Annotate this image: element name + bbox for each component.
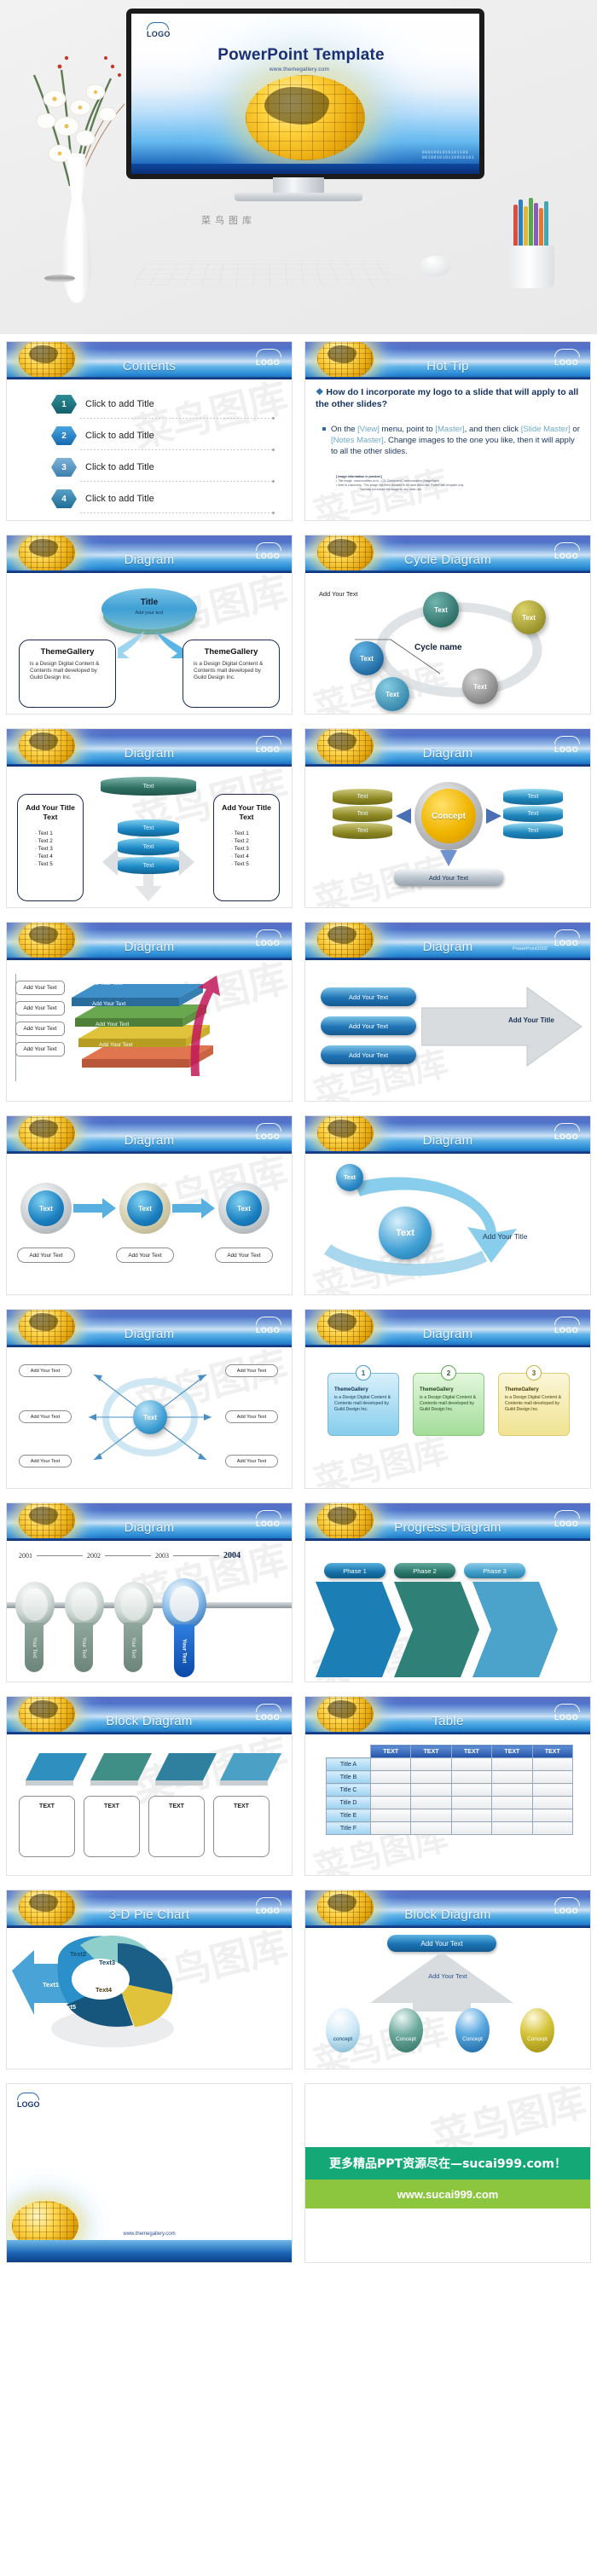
circle-label: Text: [28, 1190, 64, 1226]
caption-field[interactable]: Add Your Text: [215, 1247, 273, 1263]
version-tag: PowerPoint2002: [513, 946, 548, 952]
logo-arc-icon: [17, 2093, 39, 2100]
year-connector: [37, 1555, 83, 1556]
line-dot: [272, 512, 275, 514]
slide-header: Hot Tip LOGO: [305, 342, 590, 379]
left-cylinder: Text: [333, 789, 392, 805]
timeline-tag: Your Text: [124, 1623, 142, 1672]
logo-arc-icon: [256, 929, 281, 938]
arrow-label: Add Your Title: [508, 1016, 554, 1024]
logo-mark: LOGO: [554, 542, 580, 560]
row-header: Title E: [327, 1809, 371, 1822]
image-info-note: [ Image information in product ] • Title…: [336, 475, 580, 492]
slide-cell[interactable]: Table LOGO 菜鸟图库 TEXT TEXT TEXT TEXT TEXT: [298, 1689, 597, 1883]
slide-cell[interactable]: Block Diagram LOGO 菜鸟图库: [0, 1689, 298, 1883]
logo-text: LOGO: [554, 1132, 578, 1141]
left-field[interactable]: Add Your Text: [15, 1042, 65, 1056]
slide-title: Progress Diagram: [305, 1520, 590, 1535]
oval-node[interactable]: Concept: [455, 2008, 490, 2052]
monitor-bezel: LOGO PowerPoint Template www.themegaller…: [126, 9, 484, 179]
slide-diagram-cylinders[interactable]: Diagram LOGO 菜鸟图库 Text Text Text Text: [6, 728, 293, 908]
slide-header: Diagram LOGO: [305, 729, 590, 767]
slide-body: 菜鸟图库 Text Text Text Text Add Your Title …: [7, 767, 292, 908]
line-dot: [272, 480, 275, 483]
contents-row[interactable]: 4 Click to add Title: [51, 489, 154, 508]
arrow-right-icon: [73, 1198, 118, 1219]
square-bullet-icon: [322, 427, 326, 431]
slide-header: Cycle Diagram LOGO: [305, 535, 590, 573]
arrow-left-icon: [394, 806, 414, 826]
card-heading: ThemeGallery: [334, 1387, 392, 1392]
slide-header: Diagram LOGO: [7, 535, 292, 573]
box-body: is a Design Digital Content & Contents m…: [194, 661, 269, 681]
cycle-node[interactable]: Text: [350, 641, 384, 675]
logo-mark: LOGO: [554, 736, 580, 754]
slide-cell[interactable]: Cycle Diagram LOGO 菜鸟图库 Add Your Text Cy…: [298, 528, 597, 721]
small-node[interactable]: Text: [336, 1164, 363, 1191]
top-cylinder: Text: [101, 777, 196, 796]
year-connector: [105, 1555, 151, 1556]
slide-cell[interactable]: Diagram LOGO 菜鸟图库 Text Text Text Text: [0, 721, 298, 915]
logo-mark: LOGO: [256, 542, 281, 560]
cycle-node[interactable]: Text: [462, 669, 498, 704]
slide-cell[interactable]: Block Diagram LOGO 菜鸟图库 Add Your Text Ad…: [298, 1883, 597, 2076]
slide-hot-tip[interactable]: Hot Tip LOGO 菜鸟图库 ❖How do I incorporate …: [304, 341, 591, 521]
left-field[interactable]: Add Your Text: [15, 1022, 65, 1036]
phase-pill[interactable]: Phase 2: [394, 1563, 455, 1578]
globe-graphic: [246, 75, 365, 160]
logo-text: LOGO: [554, 1713, 578, 1722]
slide-diagram-concept[interactable]: Diagram LOGO 菜鸟图库 Text Text Text Text Te…: [304, 728, 591, 908]
slide-body: 菜鸟图库 Phase 1 Phase 2 Phase 3: [305, 1541, 590, 1682]
slide-header: Diagram LOGO: [305, 1116, 590, 1154]
pie-label: Text4: [96, 1986, 112, 1994]
slide-cell[interactable]: LOGO www.themegallery.com: [0, 2076, 298, 2270]
logo-text: LOGO: [554, 552, 578, 560]
top-button[interactable]: Add Your Text: [387, 1935, 496, 1952]
right-cylinder: Text: [503, 789, 563, 805]
line-dot: [272, 449, 275, 451]
step-badge: 4: [51, 489, 77, 508]
card[interactable]: 3 ThemeGallery is a Design Digital Conte…: [498, 1373, 570, 1436]
slide-header: Diagram LOGO: [7, 1503, 292, 1541]
row-header: Title D: [327, 1797, 371, 1809]
slide-diagram-steps[interactable]: Diagram LOGO 菜鸟图库 Add Your Text Add Your…: [6, 922, 293, 1102]
divider: [80, 481, 273, 482]
slide-title: Diagram: [7, 1327, 292, 1341]
mouse: [420, 256, 450, 276]
logo-mark: LOGO: [256, 736, 281, 754]
logo-text: LOGO: [256, 1713, 280, 1722]
block-box[interactable]: TEXT: [19, 1796, 75, 1857]
card[interactable]: 1 ThemeGallery is a Design Digital Conte…: [327, 1373, 399, 1436]
row-header: Title B: [327, 1771, 371, 1784]
side-items: · Text 1 · Text 2 · Text 3 · Text 4 · Te…: [35, 830, 83, 868]
slide-body: 菜鸟图库 Text Add Your Text Add Your Text: [7, 1347, 292, 1489]
bar-label: Add Your Text: [92, 1001, 125, 1007]
pie-label: Text5: [60, 2003, 76, 2011]
slide-cell[interactable]: Diagram LOGO 菜鸟图库 Title Add your text Th…: [0, 528, 298, 721]
contents-label: Click to add Title: [85, 494, 154, 504]
timeline-ring[interactable]: [15, 1582, 55, 1628]
timeline-ring[interactable]: [114, 1582, 154, 1628]
bar-label: Add Your Text: [99, 1042, 132, 1048]
arrow-down-icon: [438, 848, 459, 867]
logo-mark: LOGO: [17, 2093, 40, 2109]
logo-mark: LOGO: [256, 1317, 281, 1334]
divider: [80, 512, 273, 513]
card-heading: ThemeGallery: [420, 1387, 478, 1392]
slide-header: Diagram PowerPoint2002 LOGO: [305, 923, 590, 960]
hero-cn-caption: 菜鸟图库: [201, 213, 256, 227]
phase-pill[interactable]: Phase 3: [464, 1563, 525, 1578]
phase-pill[interactable]: Phase 1: [324, 1563, 385, 1578]
arrow-up-icon: [367, 1950, 517, 2012]
arrow-right-icon: [172, 1198, 217, 1219]
slide-header: Diagram LOGO: [7, 1116, 292, 1154]
logo-text: LOGO: [256, 552, 280, 560]
logo-arc-icon: [554, 929, 580, 938]
logo-arc-icon: [256, 1897, 281, 1906]
circle-label: Text: [127, 1190, 163, 1226]
side-box-right: Add Your Title Text · Text 1 · Text 2 · …: [213, 794, 280, 901]
side-items: · Text 1 · Text 2 · Text 3 · Text 4 · Te…: [231, 830, 279, 868]
card[interactable]: 2 ThemeGallery is a Design Digital Conte…: [413, 1373, 484, 1436]
logo-arc-icon: [554, 542, 580, 551]
arrow-right-icon: [483, 806, 503, 826]
pie-label: Text1: [43, 1981, 59, 1988]
column-header: TEXT: [492, 1745, 532, 1758]
monitor-foot: [235, 193, 362, 201]
year-label: 2003: [155, 1552, 169, 1560]
slide-cell[interactable]: Diagram LOGO 菜鸟图库 Add Your Text Add Your…: [0, 915, 298, 1109]
center-cylinder: Text: [118, 838, 179, 855]
slide-promo[interactable]: 菜鸟图库 更多精品PPT资源尽在—sucai999.com！ www.sucai…: [304, 2083, 591, 2263]
promo-banner-primary: 更多精品PPT资源尽在—sucai999.com！: [305, 2147, 590, 2179]
slide-cell[interactable]: 3-D Pie Chart LOGO 菜鸟图库 Text1: [0, 1883, 298, 2076]
logo-arc-icon: [554, 736, 580, 744]
slide-cell[interactable]: Diagram LOGO 菜鸟图库: [0, 1302, 298, 1496]
logo-mark: LOGO: [554, 1123, 580, 1141]
slide-body: 菜鸟图库 Add Your Text Add Your Text Add You…: [7, 960, 292, 1102]
slide-body: 菜鸟图库 Add Your Text Add Your Text concept…: [305, 1928, 590, 2069]
slide-diagram-title-two[interactable]: Diagram LOGO 菜鸟图库 Title Add your text Th…: [6, 535, 293, 715]
slide-body: 菜鸟图库 TEXT TEXT TEXT TEXT TEXT Title A Ti…: [305, 1734, 590, 1876]
slide-table[interactable]: Table LOGO 菜鸟图库 TEXT TEXT TEXT TEXT TEXT: [304, 1696, 591, 1876]
timeline-tag: Your Text: [74, 1623, 93, 1672]
radial-label[interactable]: Add Your Text: [19, 1455, 72, 1467]
logo-text: LOGO: [554, 358, 578, 367]
logo-arc-icon: [554, 1510, 580, 1519]
column-header: TEXT: [451, 1745, 491, 1758]
logo-text: LOGO: [256, 1520, 280, 1528]
slide-header: 3-D Pie Chart LOGO: [7, 1890, 292, 1928]
hero-title: PowerPoint Template: [131, 46, 471, 65]
closing-subtitle: www.themegallery.com: [7, 2232, 292, 2237]
slide-body: 菜鸟图库 Title Add your text ThemeGallery is…: [7, 573, 292, 715]
slide-cell[interactable]: Diagram LOGO 菜鸟图库 Text Text Text Add Y: [0, 1109, 298, 1302]
slide-diagram-arrow[interactable]: Diagram PowerPoint2002 LOGO 菜鸟图库 Add You…: [304, 922, 591, 1102]
slide-title: Contents: [7, 359, 292, 373]
slide-closing[interactable]: LOGO www.themegallery.com: [6, 2083, 293, 2263]
vase-base: [44, 275, 75, 282]
year-label: 2002: [87, 1552, 101, 1560]
logo-text: LOGO: [554, 745, 578, 754]
slide-body: 菜鸟图库 Add Your Text Add Your Text Add You…: [305, 960, 590, 1102]
slide-title: Diagram: [7, 746, 292, 761]
radial-center[interactable]: Text: [133, 1400, 167, 1434]
logo-text: LOGO: [256, 1326, 280, 1334]
table-row: Title D: [327, 1797, 573, 1809]
slide-title: Table: [305, 1714, 590, 1728]
table-row: Title E: [327, 1809, 573, 1822]
slide-progress-diagram[interactable]: Progress Diagram LOGO 菜鸟图库 Phase 1 Phase…: [304, 1502, 591, 1682]
step-badge: 1: [51, 395, 77, 414]
slide-title: Hot Tip: [305, 359, 590, 373]
slide-diagram-radial[interactable]: Diagram LOGO 菜鸟图库: [6, 1309, 293, 1489]
slide-cycle-diagram[interactable]: Cycle Diagram LOGO 菜鸟图库 Add Your Text Cy…: [304, 535, 591, 715]
card-heading: ThemeGallery: [505, 1387, 563, 1392]
slide-body: 菜鸟图库 1 Click to add Title 2 Click to add…: [7, 379, 292, 521]
slide-cell[interactable]: Diagram LOGO 菜鸟图库 2001 2002 2003 2004: [0, 1496, 298, 1689]
timeline-tag: Your Text: [25, 1623, 43, 1672]
card-number: 1: [356, 1365, 371, 1381]
center-ellipse: Title Add your text: [101, 588, 197, 629]
slide-title: Diagram: [7, 553, 292, 567]
chevron-progress-icon: [316, 1582, 582, 1679]
contents-label: Click to add Title: [85, 399, 154, 409]
right-cylinder: Text: [503, 823, 563, 839]
fork-arrows-icon: [116, 629, 184, 660]
slide-body: 菜鸟图库 Add Your Text Cycle name Text Text …: [305, 573, 590, 715]
contents-label: Click to add Title: [85, 462, 154, 472]
logo-text: LOGO: [554, 1520, 578, 1528]
logo-text: LOGO: [256, 1132, 280, 1141]
slide-cell[interactable]: 菜鸟图库 更多精品PPT资源尽在—sucai999.com！ www.sucai…: [298, 2076, 597, 2270]
table-row: Title C: [327, 1784, 573, 1797]
logo-mark: LOGO: [256, 1704, 281, 1722]
slide-header: Block Diagram LOGO: [305, 1890, 590, 1928]
oval-node[interactable]: concept: [326, 2008, 360, 2052]
slide-title: Block Diagram: [305, 1907, 590, 1922]
slide-cell[interactable]: Diagram PowerPoint2002 LOGO 菜鸟图库 Add You…: [298, 915, 597, 1109]
pencil-cup: [501, 208, 561, 290]
promo-banner-secondary: www.sucai999.com: [305, 2179, 590, 2208]
caption-field[interactable]: Add Your Text: [17, 1247, 75, 1263]
contents-row[interactable]: 1 Click to add Title: [51, 395, 154, 414]
cycle-name: Cycle name: [414, 643, 462, 652]
pie-label: Text2: [70, 1950, 86, 1958]
cycle-node[interactable]: Text: [375, 677, 409, 711]
step-badge: 3: [51, 458, 77, 477]
logo-mark: LOGO: [256, 1123, 281, 1141]
step-badge: 2: [51, 426, 77, 445]
contents-label: Click to add Title: [85, 431, 154, 441]
slide-diagram-swirl[interactable]: Diagram LOGO 菜鸟图库 Text Text Add Your Tit…: [304, 1115, 591, 1295]
slide-cell[interactable]: Diagram LOGO 菜鸟图库 Text Text Text Text Te…: [298, 721, 597, 915]
logo-mark: LOGO: [554, 929, 580, 947]
logo-arc-icon: [554, 1317, 580, 1325]
logo-mark: LOGO: [554, 1510, 580, 1528]
slide-title: Diagram: [7, 1133, 292, 1148]
slide-title: Diagram: [7, 1520, 292, 1535]
logo-text: LOGO: [256, 745, 280, 754]
table-row: Title A: [327, 1758, 573, 1771]
slide-thumbnail-grid: Contents LOGO 菜鸟图库 1 Click to add Title …: [0, 334, 597, 2270]
bar-label: Add Your Text: [96, 1022, 129, 1028]
circle-node[interactable]: Text: [218, 1183, 270, 1234]
timeline-ring-active[interactable]: [162, 1578, 206, 1630]
column-header: TEXT: [532, 1745, 572, 1758]
slide-pie-chart[interactable]: 3-D Pie Chart LOGO 菜鸟图库 Text1: [6, 1890, 293, 2069]
table-row: Title B: [327, 1771, 573, 1784]
logo-mark: LOGO: [147, 22, 171, 38]
concept-ring: Concept: [414, 782, 483, 850]
slide-header: Diagram LOGO: [7, 923, 292, 960]
slide-cell[interactable]: Diagram LOGO 菜鸟图库 Text Text Add Your Tit…: [298, 1109, 597, 1302]
slide-cell[interactable]: Hot Tip LOGO 菜鸟图库 ❖How do I incorporate …: [298, 334, 597, 528]
diamond-bullet-icon: ❖: [316, 387, 323, 397]
slide-block-concept[interactable]: Block Diagram LOGO 菜鸟图库 Add Your Text Ad…: [304, 1890, 591, 2069]
logo-mark: LOGO: [554, 1897, 580, 1915]
slide-header: Diagram LOGO: [305, 1310, 590, 1347]
slide-diagram-3circles[interactable]: Diagram LOGO 菜鸟图库 Text Text Text Add Y: [6, 1115, 293, 1295]
slide-title: Diagram: [305, 1327, 590, 1341]
screen-bottom-band: [131, 164, 479, 174]
logo-arc-icon: [256, 1317, 281, 1325]
slide-contents[interactable]: Contents LOGO 菜鸟图库 1 Click to add Title …: [6, 341, 293, 521]
slide-body: 菜鸟图库 Text Text Text Text Text Text Conce…: [305, 767, 590, 908]
box-heading: ThemeGallery: [183, 647, 279, 657]
contents-row[interactable]: 3 Click to add Title: [51, 458, 154, 477]
slide-body: 菜鸟图库 TEXT TEXT TEXT TEXT: [7, 1734, 292, 1876]
logo-arc-icon: [256, 349, 281, 357]
circle-label: Text: [226, 1190, 262, 1226]
logo-mark: LOGO: [256, 929, 281, 947]
card-number: 3: [526, 1365, 542, 1381]
slide-header: Diagram LOGO: [7, 729, 292, 767]
year-label-current: 2004: [223, 1551, 241, 1560]
radial-label[interactable]: Add Your Text: [19, 1410, 72, 1423]
center-title: Title: [101, 598, 197, 607]
slide-cell[interactable]: Diagram LOGO 菜鸟图库 1 ThemeGallery is a De…: [298, 1302, 597, 1496]
left-field[interactable]: Add Your Text: [15, 981, 65, 995]
hot-tip-question: ❖How do I incorporate my logo to a slide…: [316, 386, 582, 410]
slide-timeline-diagram[interactable]: Diagram LOGO 菜鸟图库 2001 2002 2003 2004: [6, 1502, 293, 1682]
step-pill[interactable]: Add Your Text: [321, 1016, 416, 1035]
row-header: Title A: [327, 1758, 371, 1771]
logo-arc-icon: [554, 1897, 580, 1906]
logo-arc-icon: [147, 22, 169, 30]
slide-header: Progress Diagram LOGO: [305, 1503, 590, 1541]
circle-node[interactable]: Text: [119, 1183, 171, 1234]
column-header: TEXT: [411, 1745, 451, 1758]
keyboard: [132, 263, 403, 286]
left-field[interactable]: Add Your Text: [15, 1001, 65, 1016]
logo-arc-icon: [256, 1510, 281, 1519]
concept-label: Concept: [421, 789, 476, 843]
slide-title: Diagram: [305, 746, 590, 761]
step-pill[interactable]: Add Your Text: [321, 1045, 416, 1064]
year-label: 2001: [19, 1552, 32, 1560]
contents-row[interactable]: 2 Click to add Title: [51, 426, 154, 445]
cycle-node[interactable]: Text: [512, 600, 546, 634]
big-arrow-right-icon: [421, 984, 583, 1069]
slide-cell[interactable]: Progress Diagram LOGO 菜鸟图库 Phase 1 Phase…: [298, 1496, 597, 1689]
center-cylinder: Text: [118, 857, 179, 874]
logo-text: LOGO: [256, 358, 280, 367]
timeline-ring[interactable]: [65, 1582, 104, 1628]
divider: [80, 418, 273, 419]
block-box[interactable]: TEXT: [84, 1796, 140, 1857]
logo-text: LOGO: [17, 2100, 40, 2109]
side-title: Add Your Title Text: [219, 803, 274, 822]
arrow-label: Add Your Text: [305, 1972, 590, 1980]
radial-label[interactable]: Add Your Text: [225, 1410, 278, 1423]
table-header-row: TEXT TEXT TEXT TEXT TEXT: [327, 1745, 573, 1758]
circle-node[interactable]: Text: [20, 1183, 72, 1234]
data-table[interactable]: TEXT TEXT TEXT TEXT TEXT Title A Title B…: [326, 1745, 573, 1835]
slide-block-diagram[interactable]: Block Diagram LOGO 菜鸟图库: [6, 1696, 293, 1876]
card-body: is a Design Digital Content & Contents m…: [334, 1395, 392, 1413]
logo-arc-icon: [256, 1704, 281, 1712]
slide-cell[interactable]: Contents LOGO 菜鸟图库 1 Click to add Title …: [0, 334, 298, 528]
logo-mark: LOGO: [256, 1510, 281, 1528]
swirl-caption: Add Your Title: [483, 1232, 527, 1241]
line-dot: [272, 417, 275, 420]
block-box[interactable]: TEXT: [148, 1796, 205, 1857]
bottom-band: [7, 2240, 292, 2262]
caption-field[interactable]: Add Your Text: [116, 1247, 174, 1263]
bar-label: Add Your Text: [89, 981, 122, 987]
radial-label[interactable]: Add Your Text: [225, 1455, 278, 1467]
tilted-plates-icon: [15, 1746, 285, 1792]
left-cylinder: Text: [333, 806, 392, 822]
cycle-node[interactable]: Text: [423, 592, 459, 628]
slide-diagram-3cards[interactable]: Diagram LOGO 菜鸟图库 1 ThemeGallery is a De…: [304, 1309, 591, 1489]
divider: [80, 449, 273, 450]
oval-node[interactable]: Concept: [389, 2008, 423, 2052]
logo-mark: LOGO: [554, 1317, 580, 1334]
card-body: is a Design Digital Content & Contents m…: [420, 1395, 478, 1413]
pie-label: Text3: [99, 1959, 115, 1966]
radial-label[interactable]: Add Your Text: [225, 1364, 278, 1377]
oval-node[interactable]: Concept: [520, 2008, 554, 2052]
timeline-tag-active: Your Text: [174, 1624, 194, 1677]
card-number: 2: [441, 1365, 456, 1381]
radial-label[interactable]: Add Your Text: [19, 1364, 72, 1377]
big-node[interactable]: Text: [379, 1207, 432, 1259]
center-subtitle: Add your text: [101, 611, 197, 616]
logo-text: LOGO: [554, 1326, 578, 1334]
year-connector: [173, 1555, 219, 1556]
slide-body: 菜鸟图库 ❖How do I incorporate my logo to a …: [305, 379, 590, 521]
side-box-left: Add Your Title Text · Text 1 · Text 2 · …: [17, 794, 84, 901]
slide-body: 菜鸟图库 2001 2002 2003 2004 Your Text Your …: [7, 1541, 292, 1682]
step-pill[interactable]: Add Your Text: [321, 987, 416, 1006]
slide-body: 菜鸟图库 Text Text Text Add Your Text Add Yo…: [7, 1154, 292, 1295]
logo-text: LOGO: [554, 939, 578, 947]
slide-preview-screen: LOGO PowerPoint Template www.themegaller…: [131, 14, 479, 174]
column-header: TEXT: [371, 1745, 411, 1758]
flower-vase-photo: [17, 26, 136, 315]
block-box[interactable]: TEXT: [213, 1796, 270, 1857]
hot-tip-bullet: On the [View] menu, point to [Master], a…: [331, 424, 580, 457]
logo-mark: LOGO: [256, 1897, 281, 1915]
binary-decoration: 0001001010101100001001010110010101: [422, 150, 474, 160]
bottom-button[interactable]: Add Your Text: [394, 869, 503, 886]
right-cylinder: Text: [503, 806, 563, 822]
